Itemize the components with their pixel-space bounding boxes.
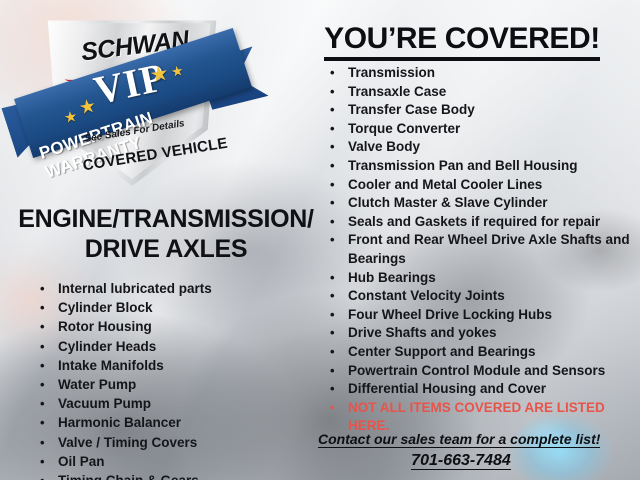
star-icon: ★ — [63, 108, 79, 127]
list-item-label: Powertrain Control Module and Sensors — [348, 362, 630, 381]
list-item-label: Vacuum Pump — [58, 394, 310, 413]
list-item: •Center Support and Bearings — [330, 343, 630, 362]
schwan-vip-badge: SCHWAN ★ ★ VIP ★ ★ POWERTRAIN WARRANTY S… — [8, 6, 258, 188]
bullet-icon: • — [330, 64, 335, 83]
bullet-icon: • — [40, 375, 45, 394]
list-item-label: Rotor Housing — [58, 317, 310, 336]
bullet-icon: • — [330, 380, 335, 399]
warranty-poster: SCHWAN ★ ★ VIP ★ ★ POWERTRAIN WARRANTY S… — [0, 0, 640, 480]
list-item-label: Timing Chain & Gears — [58, 471, 310, 480]
list-item: •Oil Pan — [40, 452, 310, 471]
engine-transmission-coverage-list: •Internal lubricated parts•Cylinder Bloc… — [40, 279, 310, 480]
bullet-icon: • — [40, 413, 45, 432]
list-item-label: Transmission — [348, 64, 630, 83]
bullet-icon: • — [330, 194, 335, 213]
bullet-icon: • — [40, 433, 45, 452]
list-item-label: Hub Bearings — [348, 269, 630, 288]
bullet-icon: • — [40, 452, 45, 471]
list-item-label: Water Pump — [58, 375, 310, 394]
bullet-icon: • — [330, 83, 335, 102]
list-item-label: Differential Housing and Cover — [348, 380, 630, 399]
bullet-icon: • — [330, 362, 335, 381]
bullet-icon: • — [330, 120, 335, 139]
list-item-label: Transmission Pan and Bell Housing — [348, 157, 630, 176]
list-item: •Transmission Pan and Bell Housing — [330, 157, 630, 176]
footer-cta: Contact our sales team for a complete li… — [318, 431, 614, 447]
right-section-heading: YOU’RE COVERED! — [312, 22, 612, 56]
list-item-label: Transaxle Case — [348, 83, 630, 102]
list-item-label: Seals and Gaskets if required for repair — [348, 213, 630, 232]
bullet-icon: • — [40, 279, 45, 298]
list-item-label: Drive Shafts and yokes — [348, 324, 630, 343]
list-item: •Seals and Gaskets if required for repai… — [330, 213, 630, 232]
bullet-icon: • — [40, 298, 45, 317]
list-item-label: Clutch Master & Slave Cylinder — [348, 194, 630, 213]
bullet-icon: • — [40, 394, 45, 413]
list-item: •Drive Shafts and yokes — [330, 324, 630, 343]
covered-items-list: •Transmission•Transaxle Case•Transfer Ca… — [330, 64, 630, 436]
list-item: •Transfer Case Body — [330, 101, 630, 120]
star-icon: ★ — [170, 62, 185, 81]
bullet-icon: • — [330, 231, 335, 250]
bullet-icon: • — [330, 176, 335, 195]
list-item-label: Cylinder Heads — [58, 337, 310, 356]
list-item: •Cylinder Heads — [40, 337, 310, 356]
bullet-icon: • — [330, 269, 335, 288]
list-item-label: Cylinder Block — [58, 298, 310, 317]
list-item: •Cooler and Metal Cooler Lines — [330, 176, 630, 195]
bullet-icon: • — [40, 356, 45, 375]
list-item: •Powertrain Control Module and Sensors — [330, 362, 630, 381]
bullet-icon: • — [330, 213, 335, 232]
list-item-label: Transfer Case Body — [348, 101, 630, 120]
list-item-label: Four Wheel Drive Locking Hubs — [348, 306, 630, 325]
list-item: •Constant Velocity Joints — [330, 287, 630, 306]
bullet-icon: • — [40, 317, 45, 336]
list-item: •Timing Chain & Gears — [40, 471, 310, 480]
star-icon: ★ — [149, 64, 170, 84]
list-item-label: Constant Velocity Joints — [348, 287, 630, 306]
left-section-heading: ENGINE/TRANSMISSION/ DRIVE AXLES — [6, 204, 326, 264]
bullet-icon: • — [330, 138, 335, 157]
list-item: •Hub Bearings — [330, 269, 630, 288]
bullet-icon: • — [40, 337, 45, 356]
list-item: •Clutch Master & Slave Cylinder — [330, 194, 630, 213]
list-item: •Valve Body — [330, 138, 630, 157]
list-item-label: Cooler and Metal Cooler Lines — [348, 176, 630, 195]
list-item-label: Center Support and Bearings — [348, 343, 630, 362]
list-item: •Valve / Timing Covers — [40, 433, 310, 452]
star-icon: ★ — [78, 98, 98, 118]
list-item: •Rotor Housing — [40, 317, 310, 336]
list-item-label: Torque Converter — [348, 120, 630, 139]
list-item: •Differential Housing and Cover — [330, 380, 630, 399]
footer-cta-text: Contact our sales team for a complete li… — [318, 431, 600, 448]
list-item: •Internal lubricated parts — [40, 279, 310, 298]
left-heading-line-2: DRIVE AXLES — [85, 235, 247, 263]
list-item: •Cylinder Block — [40, 298, 310, 317]
list-item: •Harmonic Balancer — [40, 413, 310, 432]
list-item-label: Internal lubricated parts — [58, 279, 310, 298]
list-item: •Torque Converter — [330, 120, 630, 139]
bullet-icon: • — [330, 324, 335, 343]
list-item: •Vacuum Pump — [40, 394, 310, 413]
list-item: •Four Wheel Drive Locking Hubs — [330, 306, 630, 325]
bullet-icon: • — [330, 287, 335, 306]
list-item: •Front and Rear Wheel Drive Axle Shafts … — [330, 231, 630, 268]
page-title: YOU’RE COVERED! — [324, 22, 600, 61]
list-item: •Transmission — [330, 64, 630, 83]
list-item-label: Oil Pan — [58, 452, 310, 471]
list-item: •Intake Manifolds — [40, 356, 310, 375]
bullet-icon: • — [330, 399, 335, 418]
bullet-icon: • — [40, 471, 45, 480]
list-item-label: Valve Body — [348, 138, 630, 157]
bullet-icon: • — [330, 306, 335, 325]
bullet-icon: • — [330, 157, 335, 176]
list-item-label: Valve / Timing Covers — [58, 433, 310, 452]
bullet-icon: • — [330, 101, 335, 120]
list-item: •Water Pump — [40, 375, 310, 394]
bullet-icon: • — [330, 343, 335, 362]
footer-phone-number[interactable]: 701-663-7484 — [411, 452, 511, 470]
list-item: •Transaxle Case — [330, 83, 630, 102]
list-item-label: Harmonic Balancer — [58, 413, 310, 432]
footer-phone[interactable]: 701-663-7484 — [316, 452, 606, 470]
list-item-label: Front and Rear Wheel Drive Axle Shafts a… — [348, 231, 630, 268]
left-heading-line-1: ENGINE/TRANSMISSION/ — [18, 205, 313, 233]
list-item-label: Intake Manifolds — [58, 356, 310, 375]
